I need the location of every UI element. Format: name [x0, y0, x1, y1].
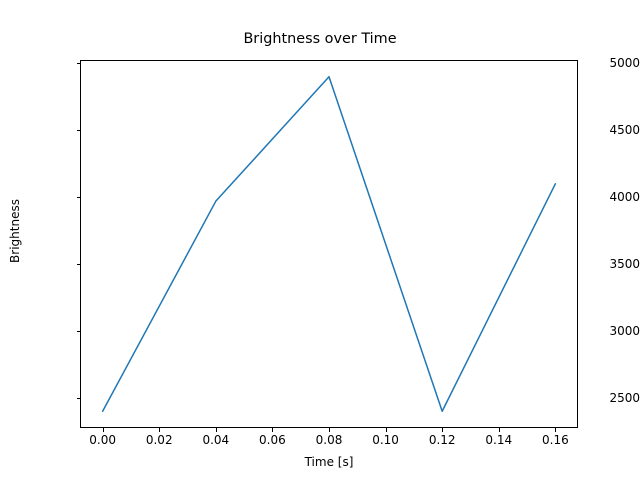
y-tick-mark: [77, 398, 81, 399]
x-tick-mark: [555, 428, 556, 432]
y-tick-mark: [77, 264, 81, 265]
y-tick-label: 4000: [570, 191, 640, 203]
y-tick-mark: [77, 197, 81, 198]
x-tick-mark: [499, 428, 500, 432]
x-tick-mark: [159, 428, 160, 432]
x-tick-mark: [216, 428, 217, 432]
x-tick-label: 0.00: [73, 434, 133, 446]
y-tick-label: 4500: [570, 124, 640, 136]
x-tick-mark: [329, 428, 330, 432]
y-axis-label: Brightness: [8, 171, 22, 291]
y-tick-mark: [77, 130, 81, 131]
y-tick-label: 3000: [570, 325, 640, 337]
x-tick-label: 0.02: [129, 434, 189, 446]
plot-area: [80, 60, 578, 428]
y-tick-mark: [77, 331, 81, 332]
x-axis-label: Time [s]: [80, 455, 578, 469]
x-tick-label: 0.10: [356, 434, 416, 446]
data-series-line: [103, 77, 556, 412]
x-tick-mark: [103, 428, 104, 432]
x-tick-mark: [272, 428, 273, 432]
x-tick-mark: [386, 428, 387, 432]
x-tick-label: 0.16: [525, 434, 585, 446]
y-tick-label: 3500: [570, 258, 640, 270]
chart-title: Brightness over Time: [0, 30, 640, 48]
x-tick-label: 0.04: [186, 434, 246, 446]
x-tick-label: 0.12: [412, 434, 472, 446]
x-tick-mark: [442, 428, 443, 432]
y-tick-mark: [77, 63, 81, 64]
y-tick-label: 5000: [570, 57, 640, 69]
y-tick-label: 2500: [570, 392, 640, 404]
x-tick-label: 0.06: [242, 434, 302, 446]
x-tick-label: 0.08: [299, 434, 359, 446]
x-tick-label: 0.14: [469, 434, 529, 446]
figure-canvas: Brightness over Time 2500300035004000450…: [0, 0, 640, 480]
